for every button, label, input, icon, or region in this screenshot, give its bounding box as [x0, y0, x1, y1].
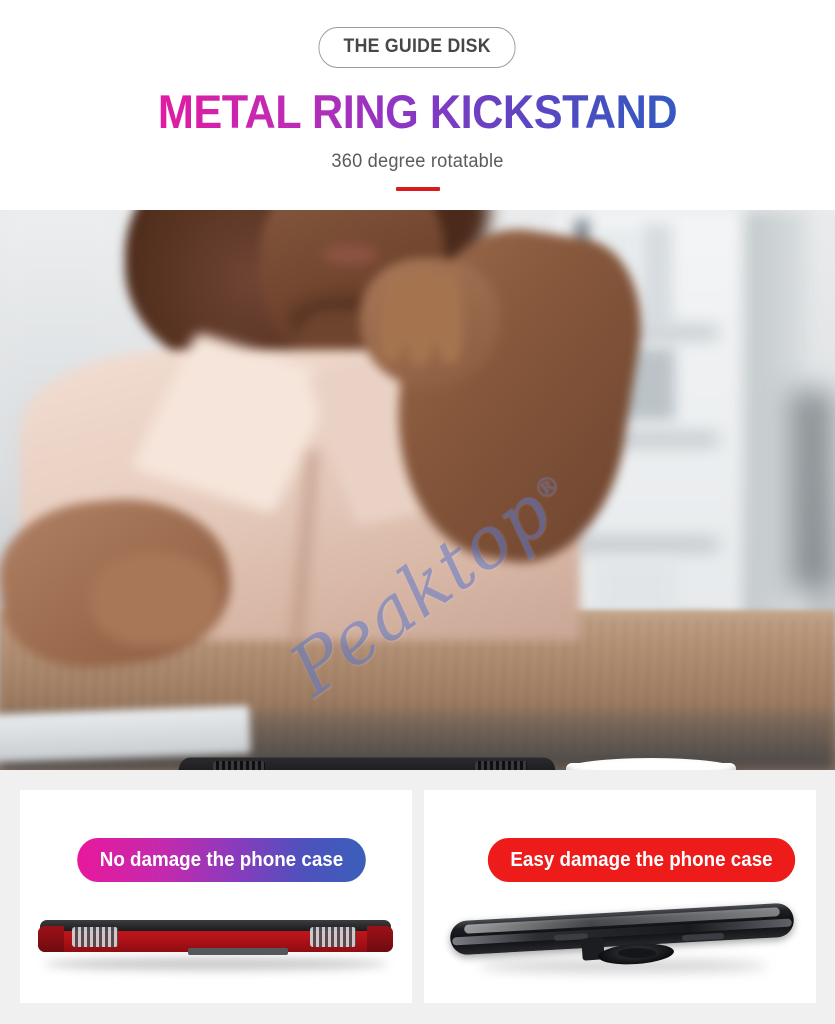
guide-disk-badge: THE GUIDE DISK: [319, 27, 516, 68]
model-woman: [30, 210, 550, 620]
hero-lifestyle-image: Peaktop®: [0, 210, 835, 770]
no-damage-label: No damage the phone case: [77, 838, 366, 882]
black-phone-image: [442, 898, 802, 976]
shelf-book: [642, 224, 672, 326]
comparison-card-no-damage: No damage the phone case: [20, 790, 412, 1003]
protruding-ring-inner: [618, 948, 656, 958]
red-phone-case-product: [175, 750, 560, 770]
flat-case-end-right: [367, 926, 393, 952]
page-title: METAL RING KICKSTAND: [33, 86, 801, 139]
flat-case-vent-right: [310, 927, 356, 947]
header-section: THE GUIDE DISK METAL RING KICKSTAND 360 …: [0, 0, 835, 210]
flat-case-port-cutout: [188, 948, 288, 955]
easy-damage-label: Easy damage the phone case: [488, 838, 795, 882]
red-case-flat-image: [38, 918, 393, 962]
flat-case-vent-left: [72, 927, 118, 947]
model-lips: [322, 245, 378, 265]
flat-case-shadow: [44, 958, 388, 970]
case-vent-right: [475, 761, 527, 770]
model-hand-left-detail: [90, 552, 220, 647]
product-detail-page: THE GUIDE DISK METAL RING KICKSTAND 360 …: [0, 0, 835, 1024]
case-vent-left: [213, 761, 265, 770]
page-subtitle: 360 degree rotatable: [17, 151, 819, 173]
flat-case-end-left: [38, 926, 64, 952]
background-shadow: [790, 390, 835, 590]
title-underline-rule: [396, 187, 440, 191]
comparison-section: No damage the phone case Easy damage the…: [0, 770, 835, 1024]
comparison-card-easy-damage: Easy damage the phone case: [424, 790, 816, 1003]
